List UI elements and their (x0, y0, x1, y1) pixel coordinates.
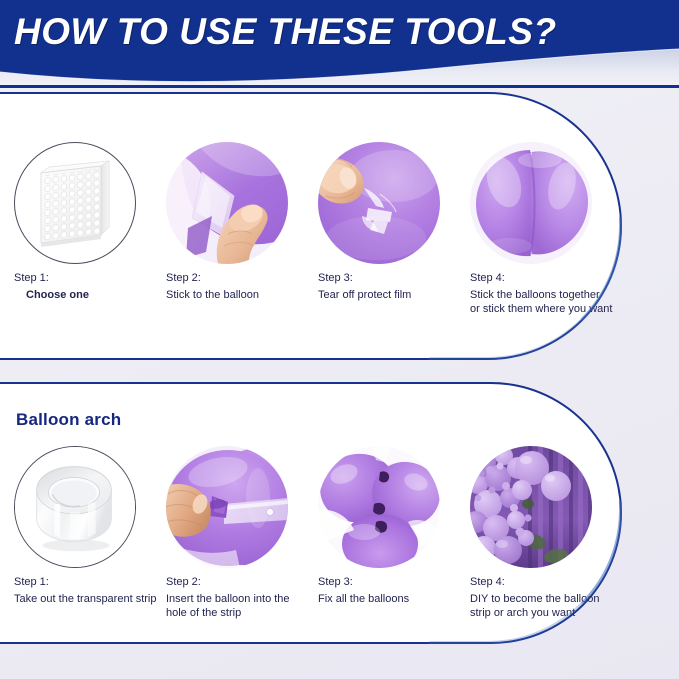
step-label: Step 4: (470, 575, 620, 589)
step-description: Stick the balloons together or stick the… (470, 288, 620, 316)
step-caption: Step 3: Tear off protect film (318, 271, 468, 302)
header-bottom-rule (0, 85, 679, 88)
step-item: Step 2: Insert the balloon into the hole… (166, 446, 316, 620)
step-description: Stick to the balloon (166, 288, 316, 302)
step-caption: Step 3: Fix all the balloons (318, 575, 468, 606)
step-item: Step 4: DIY to become the balloon strip … (470, 446, 620, 620)
three-balloons-illustration (318, 446, 440, 568)
step-caption: Step 2: Stick to the balloon (166, 271, 316, 302)
hand-film-balloon-illustration (166, 142, 288, 264)
balloon-arch-photo-illustration (470, 446, 592, 568)
three-balloons-fixed-image (318, 446, 440, 568)
step-description: Fix all the balloons (318, 592, 468, 606)
step-label: Step 3: (318, 575, 468, 589)
step-item: Step 1: Choose one (14, 142, 164, 302)
step-caption: Step 1: Choose one (14, 271, 164, 302)
page-title: HOW TO USE THESE TOOLS? (14, 9, 557, 55)
panel-balloon-arch: Balloon arch (0, 382, 622, 644)
step-caption: Step 4: DIY to become the balloon strip … (470, 575, 620, 620)
glue-dot-sheet-icon (27, 155, 123, 251)
step-description: Take out the transparent strip (14, 592, 164, 606)
header-banner: HOW TO USE THESE TOOLS? (0, 0, 679, 88)
step-description: Tear off protect film (318, 288, 468, 302)
infographic-page: HOW TO USE THESE TOOLS? (0, 0, 679, 679)
glue-dot-sheet-image (14, 142, 136, 264)
finished-balloon-arch-image (470, 446, 592, 568)
step-caption: Step 1: Take out the transparent strip (14, 575, 164, 606)
step-description: Choose one (14, 288, 164, 302)
step-description: DIY to become the balloon strip or arch … (470, 592, 620, 620)
step-item: Step 1: Take out the transparent strip (14, 446, 164, 606)
step-label: Step 3: (318, 271, 468, 285)
two-balloons-illustration (470, 142, 592, 264)
step-label: Step 1: (14, 575, 164, 589)
step-item: Step 3: Tear off protect film (318, 142, 468, 302)
transparent-strip-roll-image (14, 446, 136, 568)
step-label: Step 2: (166, 575, 316, 589)
step-item: Step 4: Stick the balloons together or s… (470, 142, 620, 316)
peeling-protective-film-image (318, 142, 440, 264)
step-grid-glue-dots: Step 1: Choose one (0, 94, 620, 358)
step-label: Step 1: (14, 271, 164, 285)
tape-roll-illustration (15, 447, 135, 567)
panel-glue-dots: Step 1: Choose one (0, 92, 622, 360)
step-caption: Step 2: Insert the balloon into the hole… (166, 575, 316, 620)
two-balloons-stuck-together-image (470, 142, 592, 264)
insert-balloon-illustration (166, 446, 288, 568)
step-label: Step 4: (470, 271, 620, 285)
step-description: Insert the balloon into the hole of the … (166, 592, 316, 620)
step-caption: Step 4: Stick the balloons together or s… (470, 271, 620, 316)
hand-sticking-film-to-balloon-image (166, 142, 288, 264)
step-label: Step 2: (166, 271, 316, 285)
step-item: Step 2: Stick to the balloon (166, 142, 316, 302)
step-item: Step 3: Fix all the balloons (318, 446, 468, 606)
inserting-balloon-into-strip-image (166, 446, 288, 568)
step-grid-balloon-arch: Step 1: Take out the transparent strip (0, 384, 620, 642)
peel-film-illustration (318, 142, 440, 264)
